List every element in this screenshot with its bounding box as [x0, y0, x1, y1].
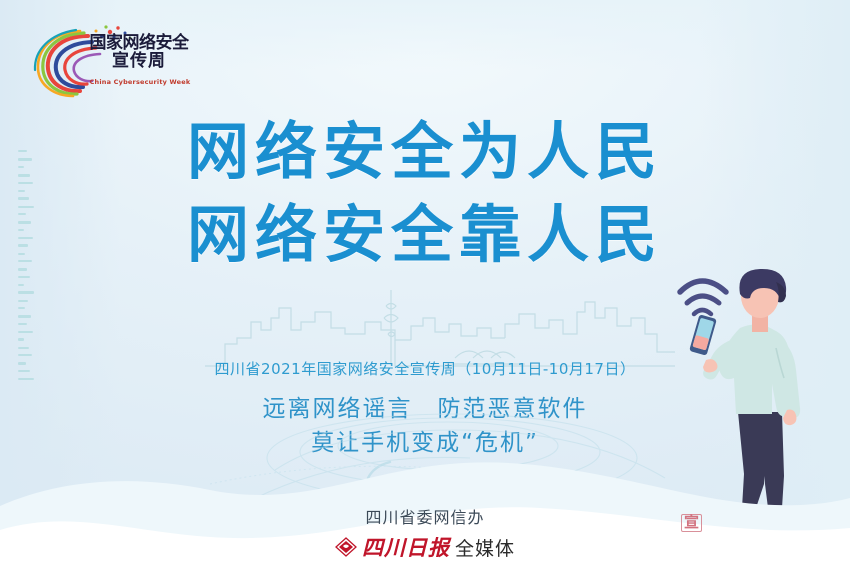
headline-line-1: 网络安全为人民 [0, 112, 850, 191]
footer-brand-name: 四川日报 [362, 532, 450, 562]
footer-seal-char: 宣 [681, 514, 702, 532]
logo-english-text: China Cybersecurity Week [84, 78, 196, 86]
page-title: 网络安全为人民 网络安全靠人民 [0, 112, 850, 275]
smartphone-icon [689, 314, 717, 355]
footer-brand-suffix: 全媒体 [455, 534, 515, 561]
poster-canvas: 国家网络安全 宣传周 China Cybersecurity Week 网络安全… [0, 0, 850, 580]
footer: 四川省委网信办 四川日报 全媒体 宣 [0, 504, 850, 562]
cybersecurity-week-logo: 国家网络安全 宣传周 China Cybersecurity Week [26, 22, 186, 100]
skyline-svg [205, 278, 675, 370]
sichuan-daily-red-seal-icon [335, 537, 357, 557]
logo-line1: 国家网络安全 [84, 34, 194, 52]
logo-line2: 宣传周 [84, 52, 194, 70]
footer-organization: 四川省委网信办 [0, 504, 850, 528]
footer-brand-row: 四川日报 全媒体 宣 [0, 532, 850, 562]
city-skyline-outline [205, 278, 675, 370]
left-edge-barcode-strip [18, 150, 34, 380]
logo-text-block: 国家网络安全 宣传周 [84, 34, 194, 70]
